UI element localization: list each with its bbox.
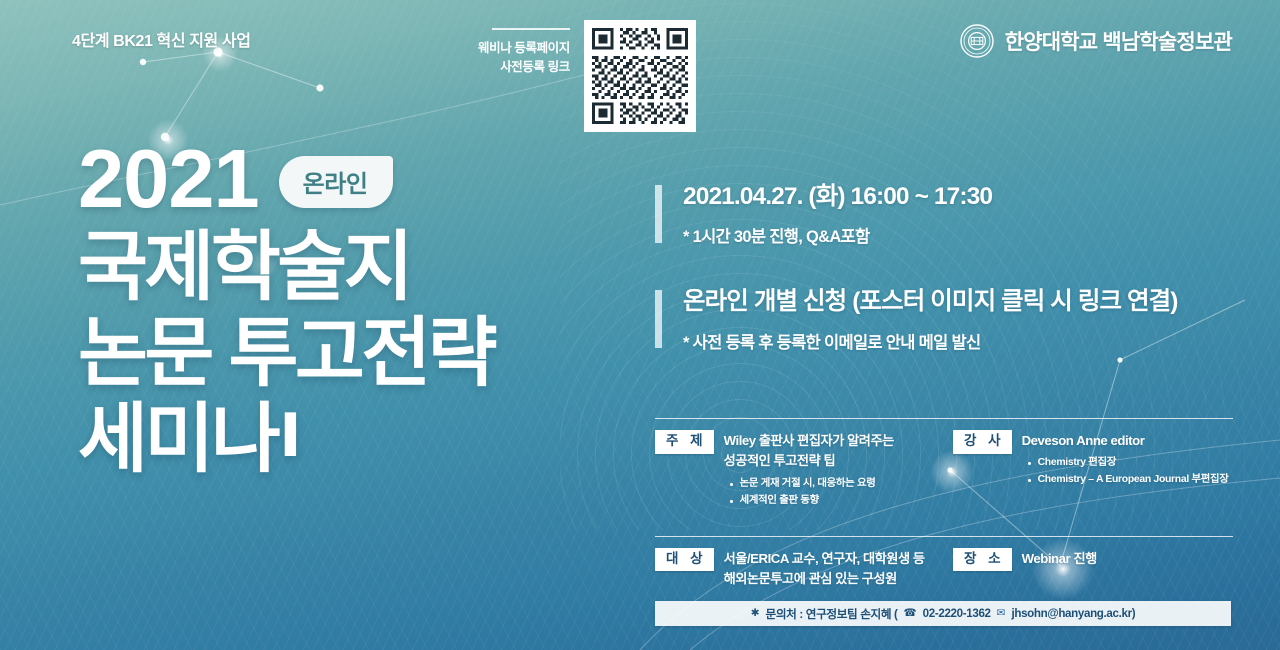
detail-grid: 주 제 Wiley 출판사 편집자가 알려주는 성공적인 투고전략 팁 논문 게… (655, 418, 1233, 590)
phone-icon: ☎ (904, 608, 917, 619)
headline-year: 2021 (78, 141, 259, 217)
detail-venue: 장 소 Webinar 진행 (953, 536, 1233, 590)
detail-body-audience: 서울/ERICA 교수, 연구자, 대학원생 등 해외논문투고에 관심 있는 구… (724, 548, 925, 590)
hanyang-university-seal-icon (960, 24, 994, 58)
qr-caption-line-1: 웨비나 등록페이지 (478, 39, 570, 58)
detail-bullet-list: 논문 게재 거절 시, 대응하는 요령 세계적인 출판 동향 (724, 476, 894, 510)
detail-body-topic: Wiley 출판사 편집자가 알려주는 성공적인 투고전략 팁 논문 게재 거절… (724, 430, 894, 510)
detail-audience: 대 상 서울/ERICA 교수, 연구자, 대학원생 등 해외논문투고에 관심 … (655, 536, 953, 590)
detail-line: 서울/ERICA 교수, 연구자, 대학원생 등 (724, 549, 925, 569)
qr-registration-block[interactable]: 웨비나 등록페이지 사전등록 링크 (478, 20, 696, 132)
registration-headline: 온라인 개별 신청 (포스터 이미지 클릭 시 링크 연결) (683, 287, 1235, 316)
registration-block[interactable]: 온라인 개별 신청 (포스터 이미지 클릭 시 링크 연결) * 사전 등록 후… (655, 287, 1235, 352)
datetime-block: 2021.04.27. (화) 16:00 ~ 17:30 * 1시간 30분 … (655, 182, 1235, 247)
online-badge: 온라인 (279, 156, 394, 208)
headline-roman-numeral: Ⅰ (277, 402, 301, 469)
qr-caption-line-2: 사전등록 링크 (478, 58, 570, 77)
detail-label-audience: 대 상 (655, 548, 714, 572)
detail-label-speaker: 강 사 (953, 430, 1012, 454)
detail-line: Webinar 진행 (1022, 549, 1097, 569)
asterisk-icon: ✱ (751, 608, 760, 619)
headline-line-3-text: 세미나 (78, 397, 277, 482)
qr-caption: 웨비나 등록페이지 사전등록 링크 (478, 20, 570, 78)
detail-bullet: Chemistry 편집장 (1038, 455, 1229, 472)
program-tag: 4단계 BK21 혁신 지원 사업 (72, 27, 251, 51)
registration-note: * 사전 등록 후 등록한 이메일로 안내 메일 발신 (683, 329, 1235, 353)
datetime-headline: 2021.04.27. (화) 16:00 ~ 17:30 (683, 182, 1235, 211)
qr-caption-rule (492, 28, 570, 30)
seminar-poster: 4단계 BK21 혁신 지원 사업 웨비나 등록페이지 사전등록 링크 (0, 0, 1280, 650)
detail-bullet: 논문 게재 거절 시, 대응하는 요령 (740, 476, 894, 493)
detail-bullet: 세계적인 출판 동향 (740, 493, 894, 510)
headline-line-2: 논문 투고전략 (78, 311, 678, 397)
brand-name: 한양대학교 백남학술정보관 (1005, 26, 1232, 56)
detail-body-venue: Webinar 진행 (1022, 548, 1097, 569)
detail-label-venue: 장 소 (953, 548, 1012, 572)
datetime-note: * 1시간 30분 진행, Q&A포함 (683, 223, 1235, 247)
headline-year-row: 2021 온라인 (78, 133, 678, 225)
contact-bar: ✱ 문의처 : 연구정보팀 손지혜 ( ☎ 02-2220-1362 ✉ jhs… (655, 601, 1231, 626)
detail-topic: 주 제 Wiley 출판사 편집자가 알려주는 성공적인 투고전략 팁 논문 게… (655, 418, 953, 510)
contact-prefix: 문의처 : 연구정보팀 손지혜 ( (766, 606, 898, 622)
brand-lockup: 한양대학교 백남학술정보관 (960, 24, 1232, 58)
detail-speaker: 강 사 Deveson Anne editor Chemistry 편집장 Ch… (953, 418, 1233, 510)
headline-line-1: 국제학술지 (78, 225, 678, 311)
event-info-column: 2021.04.27. (화) 16:00 ~ 17:30 * 1시간 30분 … (655, 182, 1235, 393)
detail-line: 해외논문투고에 관심 있는 구성원 (724, 569, 925, 589)
envelope-icon: ✉ (997, 608, 1006, 619)
detail-body-speaker: Deveson Anne editor Chemistry 편집장 Chemis… (1022, 430, 1229, 489)
poster-headline: 2021 온라인 국제학술지 논문 투고전략 세미나Ⅰ (78, 133, 678, 483)
detail-bullet-list: Chemistry 편집장 Chemistry – A European Jou… (1022, 455, 1229, 489)
contact-phone: 02-2220-1362 (923, 607, 991, 620)
headline-line-3: 세미나Ⅰ (78, 397, 678, 483)
detail-bullet: Chemistry – A European Journal 부편집장 (1038, 472, 1229, 489)
detail-label-topic: 주 제 (655, 430, 714, 454)
detail-line: 성공적인 투고전략 팁 (724, 451, 894, 471)
detail-line: Deveson Anne editor (1022, 431, 1229, 451)
detail-line: Wiley 출판사 편집자가 알려주는 (724, 431, 894, 451)
qr-code-icon[interactable] (584, 20, 696, 132)
contact-email[interactable]: jhsohn@hanyang.ac.kr) (1011, 607, 1135, 620)
